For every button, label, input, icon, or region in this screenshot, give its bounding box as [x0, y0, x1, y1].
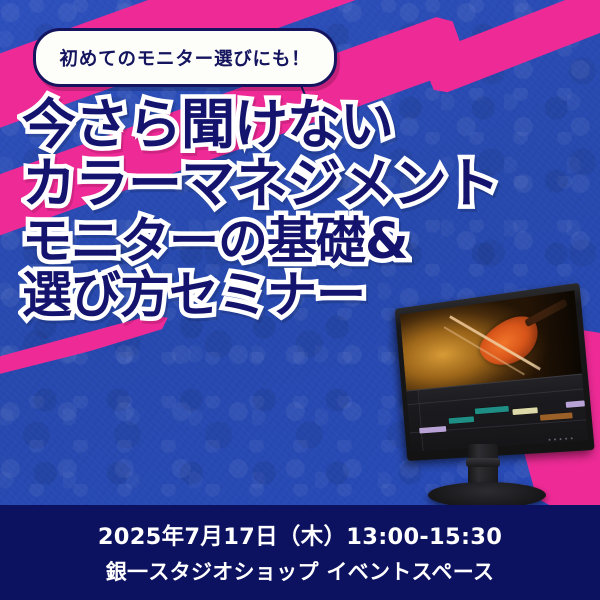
- monitor-button-dot: [565, 438, 567, 440]
- monitor-button-dot: [548, 439, 550, 441]
- timeline-rail-upper: [408, 389, 584, 406]
- headline-line-1: 今さら聞けない: [22, 96, 582, 155]
- timeline-clip: [448, 416, 474, 424]
- timeline-clip: [475, 406, 509, 414]
- timeline-clip: [512, 407, 538, 415]
- headline-line-2: カラーマネジメント: [22, 155, 582, 214]
- seminar-promo-banner: 初めてのモニター選びにも！ 今さら聞けない カラーマネジメント モニターの基礎&…: [0, 0, 600, 600]
- timeline-clip: [419, 426, 446, 434]
- timeline-clip: [565, 401, 585, 409]
- monitor-button-row: [548, 437, 572, 441]
- timeline-clip: [540, 412, 572, 420]
- monitor-button-dot: [559, 438, 561, 440]
- event-venue: 銀一スタジオショップ イベントスペース: [106, 556, 495, 586]
- monitor-button-dot: [570, 437, 572, 439]
- monitor-stand-ring: [466, 458, 500, 467]
- headline-line-3: モニターの基礎&: [22, 214, 582, 269]
- event-info-footer: 2025年7月17日（木）13:00-15:30 銀一スタジオショップ イベント…: [0, 505, 600, 600]
- headline-line-4: 選び方セミナー: [22, 268, 582, 323]
- intro-badge-label: 初めてのモニター選びにも！: [60, 45, 311, 71]
- headline-block: 今さら聞けない カラーマネジメント モニターの基礎& 選び方セミナー: [22, 96, 582, 323]
- intro-badge: 初めてのモニター選びにも！: [33, 28, 337, 87]
- timeline-side-panel: [406, 390, 423, 452]
- event-date-time: 2025年7月17日（木）13:00-15:30: [98, 519, 502, 551]
- monitor-button-dot: [554, 438, 556, 440]
